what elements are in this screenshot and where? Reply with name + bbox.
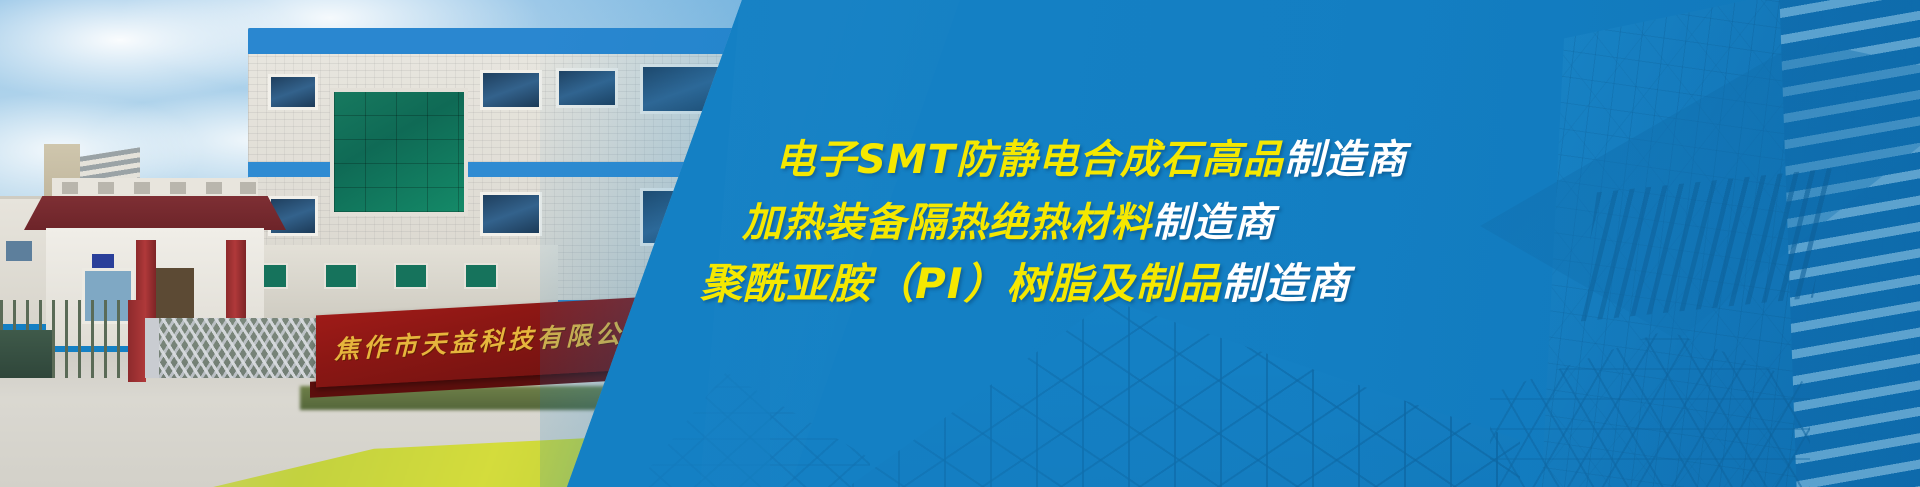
retractable-gate	[145, 318, 320, 378]
window	[556, 68, 618, 108]
louver-array-graphic	[1578, 168, 1831, 321]
guard-roof	[24, 196, 286, 230]
roof-blue-band	[248, 28, 768, 54]
green-curtain-wall	[330, 88, 468, 216]
company-sign-text: 焦作市天益科技有限公司	[334, 313, 653, 367]
guard-parapet	[52, 178, 258, 198]
gate-post	[128, 300, 146, 382]
space-frame-truss-graphic	[760, 300, 1520, 487]
window	[480, 70, 542, 110]
hero-banner: 焦作市天益科技有限公司 电子SMT防静电合成石高品制造商 加热装备隔热绝热材料制…	[0, 0, 1920, 487]
utility-box	[0, 330, 52, 378]
window	[268, 74, 318, 110]
window	[480, 192, 542, 236]
guard-placard	[92, 254, 114, 268]
